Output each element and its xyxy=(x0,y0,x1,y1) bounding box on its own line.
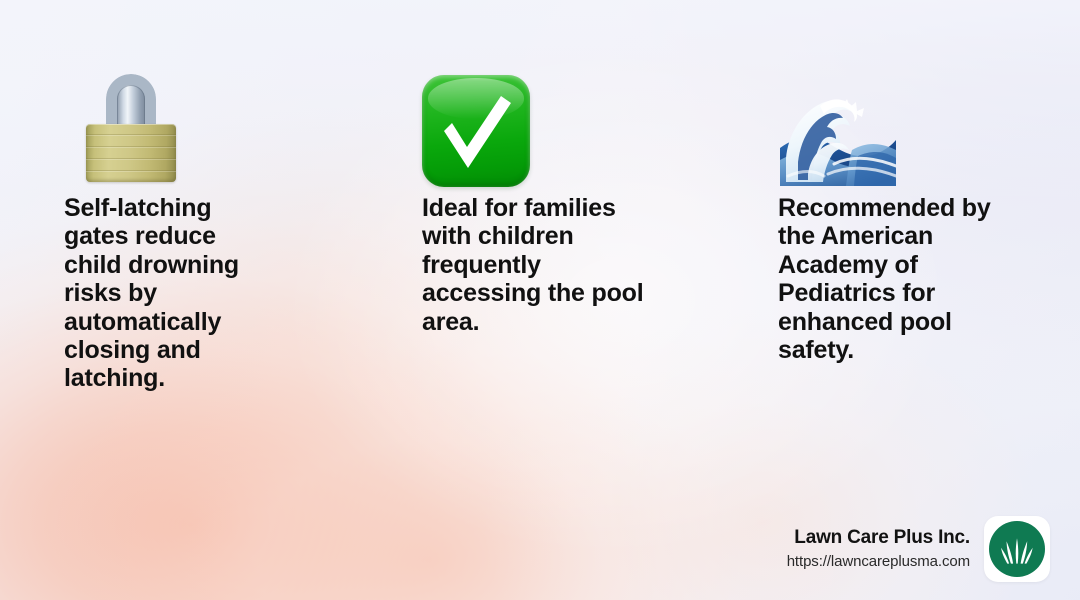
benefit-column-3: Recommended by the American Academy of P… xyxy=(778,62,1058,364)
benefit-icon-slot-3 xyxy=(778,62,1058,194)
company-name: Lawn Care Plus Inc. xyxy=(794,528,970,549)
check-mark-glyph xyxy=(422,75,530,187)
benefit-column-1: Self-latching gates reduce child drownin… xyxy=(64,62,344,393)
benefit-text-1: Self-latching gates reduce child drownin… xyxy=(64,194,279,393)
benefit-text-2: Ideal for families with children frequen… xyxy=(422,194,662,336)
brand-logo-plate xyxy=(984,516,1050,582)
lock-icon xyxy=(86,74,176,182)
water-wave-icon xyxy=(780,90,896,186)
benefit-icon-slot-1 xyxy=(64,62,344,194)
benefit-column-2: Ideal for families with children frequen… xyxy=(422,62,702,336)
brand-text-block: Lawn Care Plus Inc. https://lawncareplus… xyxy=(787,528,970,570)
website-url[interactable]: https://lawncareplusma.com xyxy=(787,554,970,571)
logo-circle xyxy=(989,521,1045,577)
lock-body xyxy=(86,124,176,182)
benefit-columns: Self-latching gates reduce child drownin… xyxy=(0,0,1080,600)
grass-logo-icon xyxy=(989,521,1045,577)
check-mark-button-icon xyxy=(422,75,530,187)
benefit-icon-slot-2 xyxy=(422,62,702,194)
promo-card: Self-latching gates reduce child drownin… xyxy=(0,0,1080,600)
benefit-text-3: Recommended by the American Academy of P… xyxy=(778,194,1010,364)
brand-footer: Lawn Care Plus Inc. https://lawncareplus… xyxy=(787,516,1050,582)
